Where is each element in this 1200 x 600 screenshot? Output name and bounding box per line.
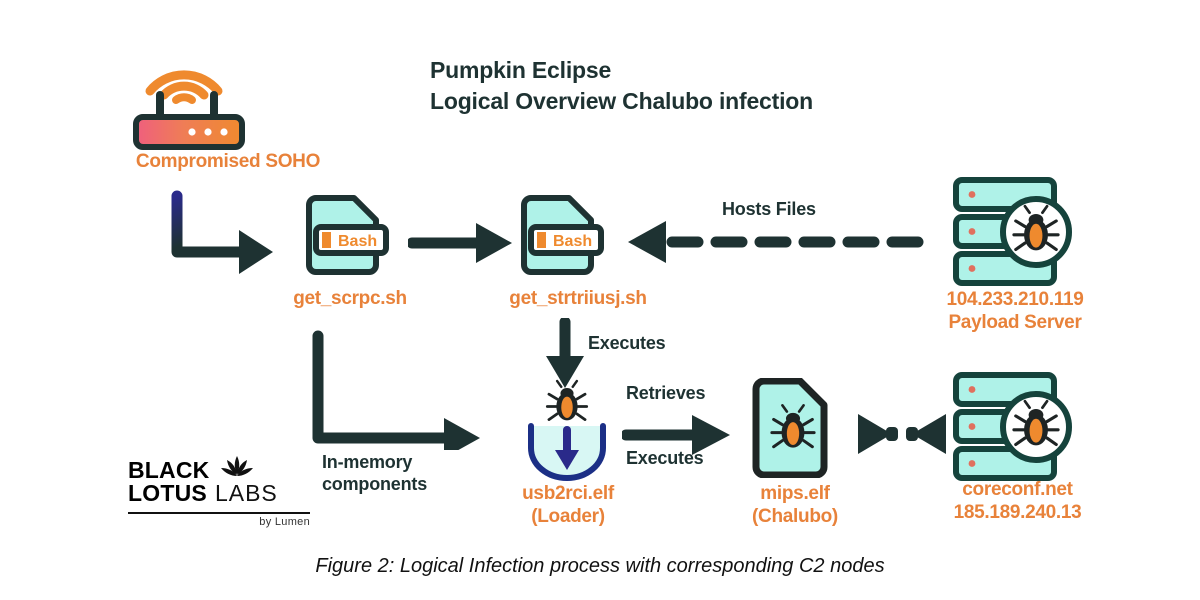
in-memory-line-1: In-memory (322, 452, 427, 474)
label-coreconf-server: coreconf.net 185.189.240.13 (910, 478, 1125, 524)
label-usb2rci-name: usb2rci.elf (478, 482, 658, 505)
edge-label-executes-down: Executes (588, 333, 665, 355)
figure-caption: Figure 2: Logical Infection process with… (0, 555, 1200, 578)
edge-label-hosts-files: Hosts Files (722, 199, 816, 221)
logo-divider (128, 512, 310, 514)
infected-server-icon-payload (950, 175, 1075, 290)
edge-label-executes-right: Executes (626, 448, 703, 470)
label-payload-server: 104.233.210.119 Payload Server (900, 288, 1130, 334)
logo-byline: by Lumen (128, 516, 310, 528)
edge-label-in-memory-components: In-memory components (322, 452, 427, 495)
label-mips: mips.elf (Chalubo) (705, 482, 885, 528)
label-coreconf-domain: coreconf.net (910, 478, 1125, 501)
page-title: Pumpkin Eclipse Logical Overview Chalubo… (430, 55, 950, 117)
logo-black-text: BLACK (128, 459, 210, 482)
label-usb2rci-role: (Loader) (478, 505, 658, 528)
in-memory-line-2: components (322, 474, 427, 496)
edge-scrpc-to-strtriiusj (408, 218, 526, 268)
label-coreconf-ip: 185.189.240.13 (910, 501, 1125, 524)
diagram-canvas: Pumpkin Eclipse Logical Overview Chalubo… (0, 0, 1200, 600)
logo-lotus-text: LOTUS (128, 482, 207, 505)
black-lotus-labs-logo: BLACK LOTUS LABS by Lumen (128, 455, 328, 537)
label-usb2rci: usb2rci.elf (Loader) (478, 482, 658, 528)
edge-soho-to-scrpc (165, 190, 305, 280)
label-get-scrpc: get_scrpc.sh (255, 287, 445, 310)
label-mips-name: mips.elf (705, 482, 885, 505)
label-mips-role: (Chalubo) (705, 505, 885, 528)
bug-download-icon-usb2rci (515, 378, 620, 483)
edge-mips-to-coreconf-bidirectional (848, 408, 958, 460)
router-icon (128, 55, 258, 150)
bug-icon (547, 381, 586, 420)
bug-file-icon-mips (748, 378, 840, 478)
infected-server-icon-coreconf (950, 370, 1075, 485)
title-line-2: Logical Overview Chalubo infection (430, 86, 950, 117)
bash-script-file-icon-get-scrpc: Bash (300, 195, 396, 275)
label-compromised-soho: Compromised SOHO (118, 150, 338, 173)
logo-labs-text: LABS (215, 482, 278, 505)
bash-badge-text: Bash (338, 233, 377, 250)
label-payload-server-name: Payload Server (900, 311, 1130, 334)
edge-hosts-files-dashed (620, 215, 930, 270)
label-get-strtriiusj: get_strtriiusj.sh (478, 287, 678, 310)
title-line-1: Pumpkin Eclipse (430, 55, 950, 86)
lotus-icon (220, 455, 254, 481)
edge-in-memory-components (310, 330, 500, 450)
edge-label-retrieves: Retrieves (626, 383, 705, 405)
bash-script-file-icon-get-strtriiusj: Bash (515, 195, 611, 275)
bash-badge-text: Bash (553, 233, 592, 250)
label-payload-server-ip: 104.233.210.119 (900, 288, 1130, 311)
